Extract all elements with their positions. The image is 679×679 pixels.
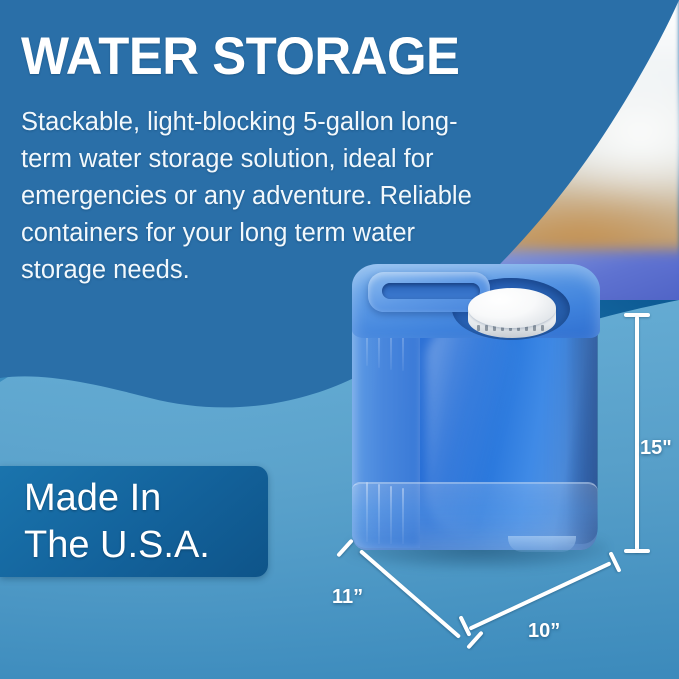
page-title: WATER STORAGE: [21, 30, 597, 84]
container-cap: [466, 288, 558, 340]
infographic-canvas: WATER STORAGE Stackable, light-blocking …: [0, 0, 679, 679]
cap-top-surface: [468, 288, 556, 328]
width-dimension-label: 10”: [528, 620, 560, 643]
made-in-usa-badge: Made In The U.S.A.: [0, 466, 268, 577]
cap-tooth: [485, 325, 488, 331]
badge-line-2: The U.S.A.: [24, 522, 250, 569]
water-container-product-image: [330, 250, 630, 590]
depth-dimension-cap-start: [336, 538, 354, 557]
height-dimension-label: 15": [640, 437, 672, 460]
depth-dimension-label: 11”: [332, 586, 363, 609]
cap-tooth: [533, 325, 536, 331]
depth-dimension-line: [359, 549, 461, 639]
height-dimension-cap-bottom: [624, 549, 650, 553]
badge-line-1: Made In: [24, 475, 250, 522]
cap-tooth: [541, 325, 544, 331]
cap-tooth: [477, 325, 480, 331]
height-dimension-line: [635, 316, 639, 552]
